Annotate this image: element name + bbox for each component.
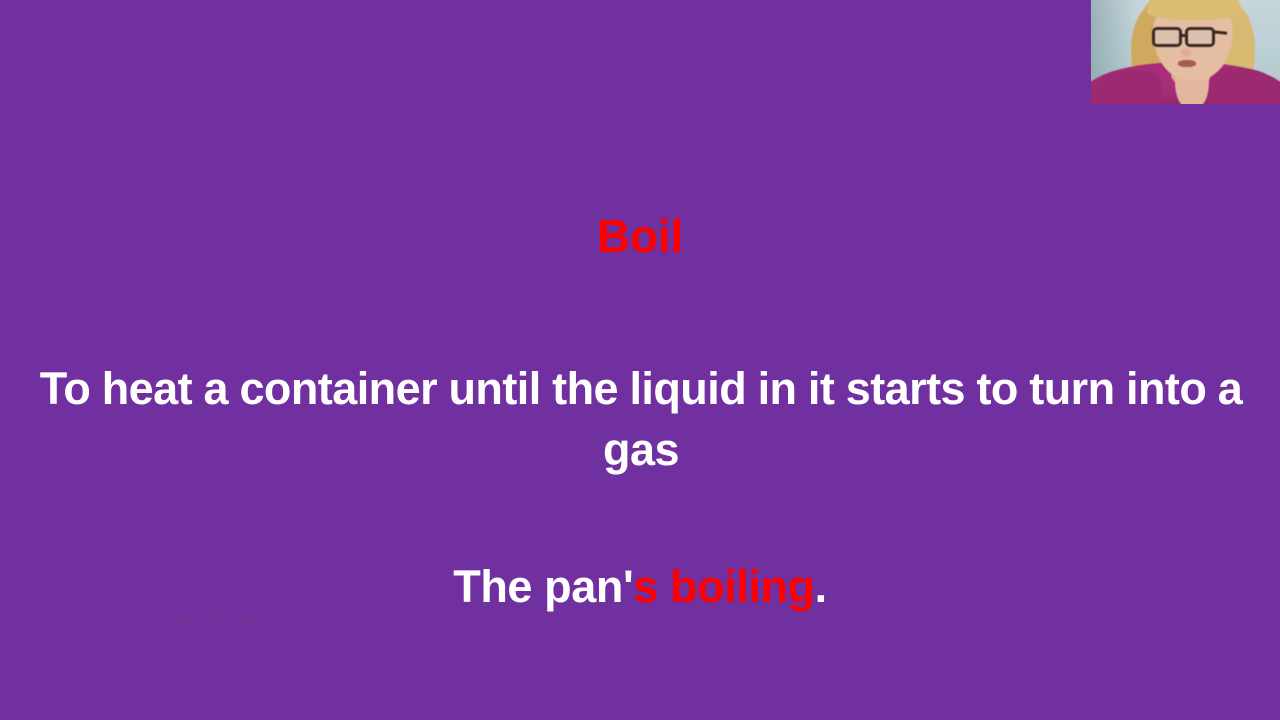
presenter-nose <box>1181 48 1191 57</box>
compression-artifact <box>258 628 265 634</box>
glasses-left-lens <box>1152 27 1182 47</box>
compression-artifact <box>243 616 252 623</box>
presenter-mouth <box>1178 60 1196 67</box>
slide-definition: To heat a container until the liquid in … <box>8 358 1274 480</box>
presenter-fringe <box>1147 0 1241 20</box>
slide-example-sentence: The pan's boiling. <box>0 560 1280 614</box>
slide-headword: Boil <box>0 213 1280 259</box>
example-suffix: . <box>815 561 827 612</box>
example-prefix: The pan' <box>453 561 633 612</box>
example-highlight: s boiling <box>633 561 814 612</box>
glasses-bridge <box>1181 34 1187 37</box>
glasses-right-lens <box>1185 27 1215 47</box>
compression-artifact <box>178 618 188 626</box>
presentation-slide: Boil To heat a container until the liqui… <box>0 0 1280 720</box>
presenter-webcam-overlay[interactable] <box>1091 0 1280 104</box>
